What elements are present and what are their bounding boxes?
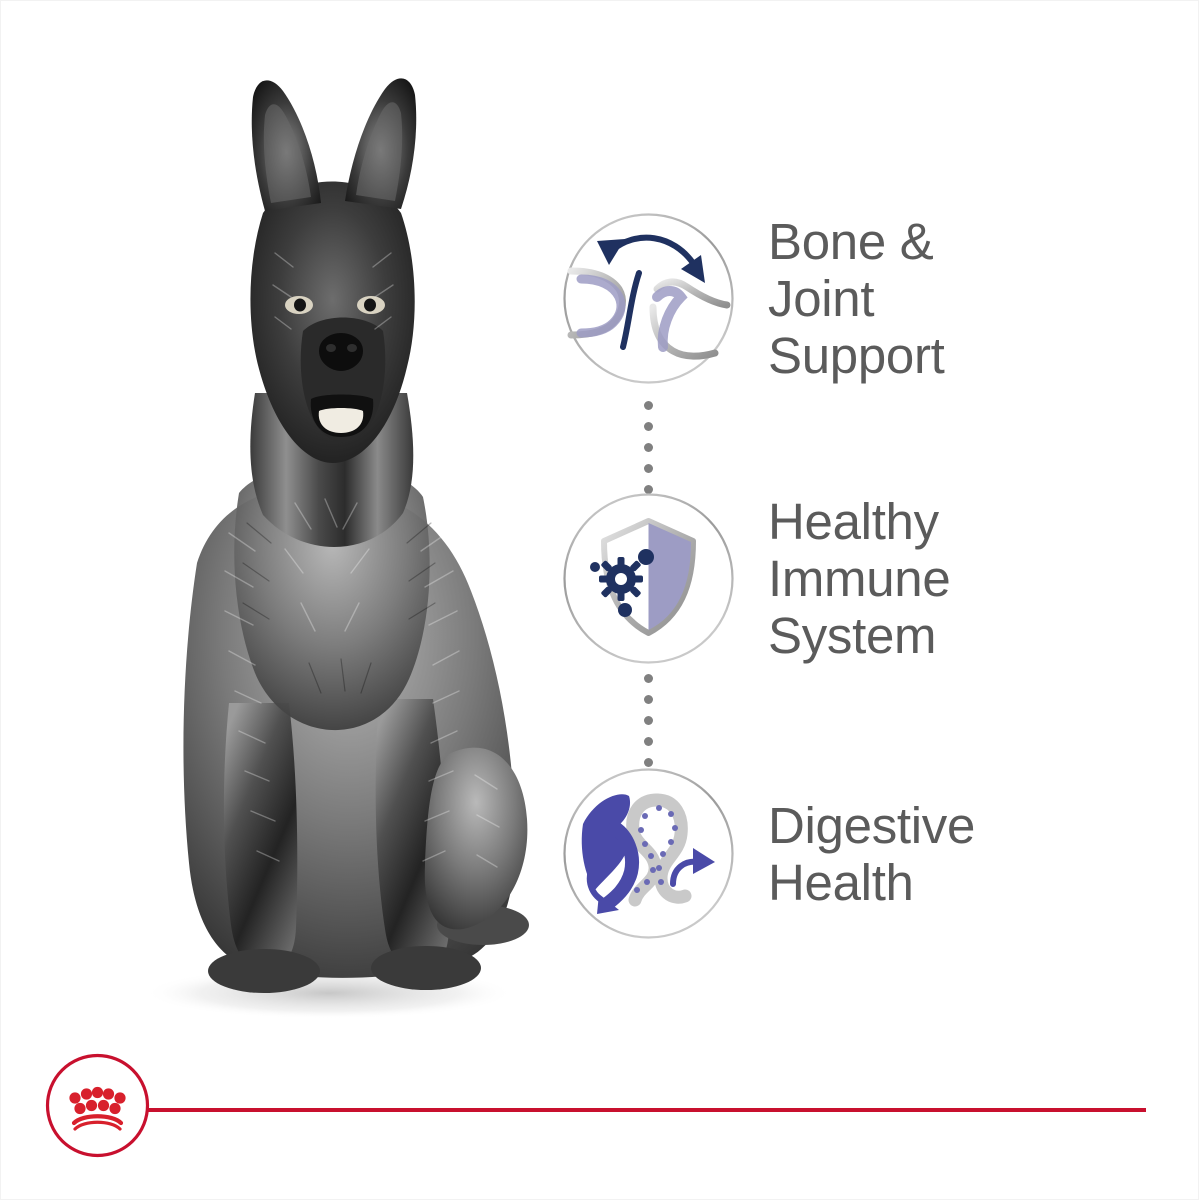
connector-dot bbox=[644, 674, 653, 683]
connector-dot bbox=[644, 737, 653, 746]
benefit-label-digestive: Digestive Health bbox=[768, 797, 975, 911]
digestive-tract-icon bbox=[561, 766, 736, 941]
shield-immune-icon bbox=[561, 491, 736, 666]
royal-canin-crown-logo[interactable] bbox=[45, 1053, 150, 1158]
benefit-item-immune[interactable]: Healthy Immune System bbox=[561, 491, 1081, 666]
benefit-item-digestive[interactable]: Digestive Health bbox=[561, 766, 1081, 941]
benefit-label-immune: Healthy Immune System bbox=[768, 493, 950, 664]
connector-dot bbox=[644, 716, 653, 725]
connector-dots-1 bbox=[644, 401, 653, 481]
connector-dot bbox=[644, 422, 653, 431]
connector-dot bbox=[644, 695, 653, 704]
connector-dot bbox=[644, 443, 653, 452]
connector-dot bbox=[644, 401, 653, 410]
product-feature-panel: Bone & Joint Support bbox=[0, 0, 1199, 1200]
connector-dots-2 bbox=[644, 674, 653, 754]
german-shepherd-sitting-photo bbox=[79, 63, 549, 1018]
brand-rule-divider bbox=[147, 1108, 1146, 1112]
benefit-label-bone-joint: Bone & Joint Support bbox=[768, 213, 945, 384]
benefit-list: Bone & Joint Support bbox=[561, 211, 1081, 971]
benefit-item-bone-joint[interactable]: Bone & Joint Support bbox=[561, 211, 1081, 386]
connector-dot bbox=[644, 464, 653, 473]
bone-joint-icon bbox=[561, 211, 736, 386]
